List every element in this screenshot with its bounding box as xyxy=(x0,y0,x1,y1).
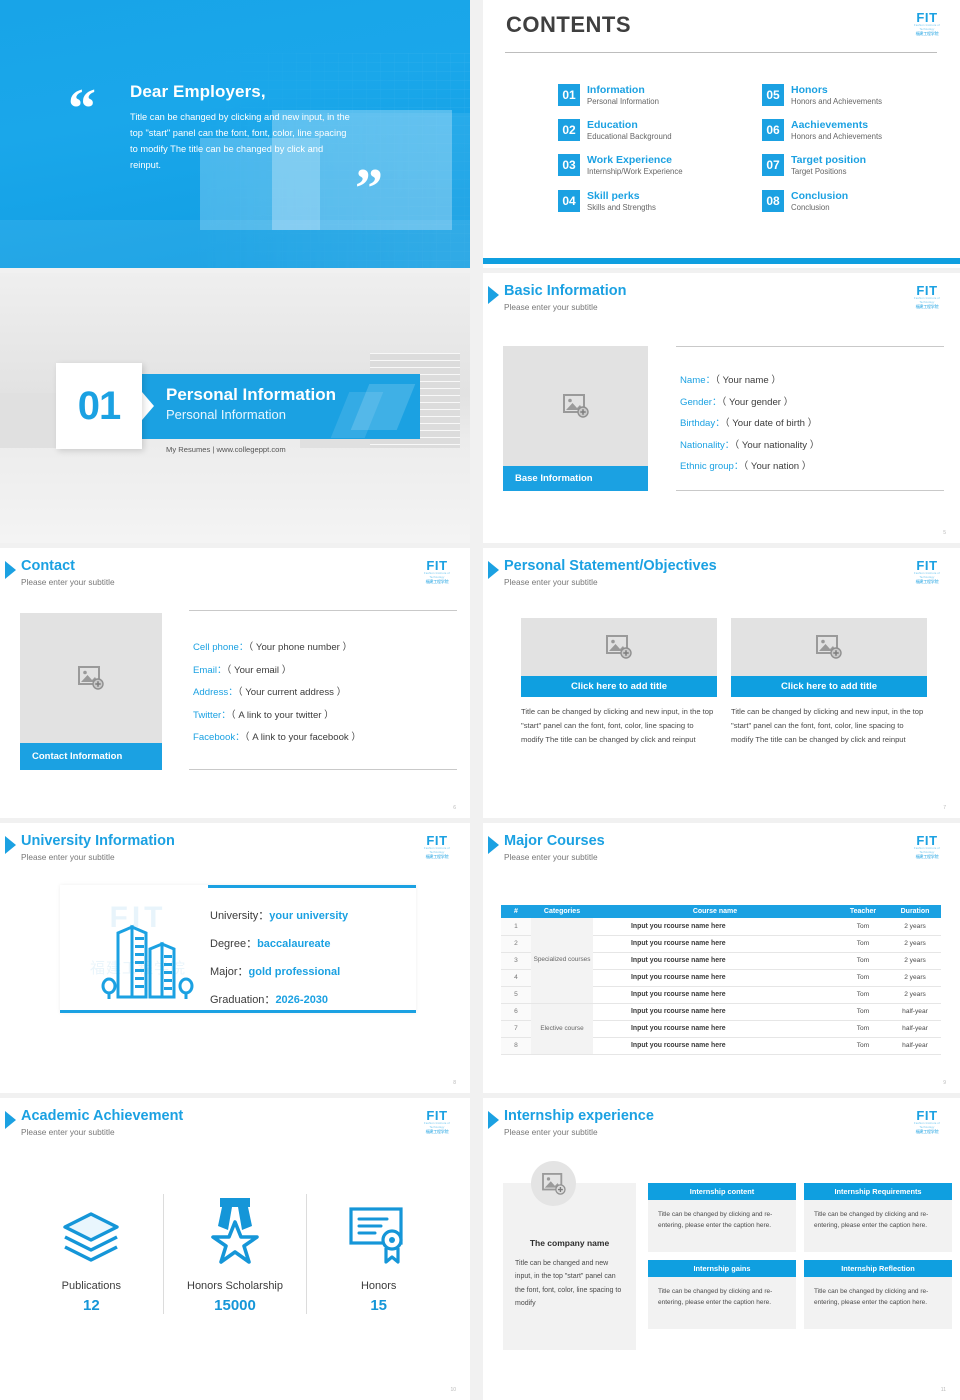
page-subtitle: Please enter your subtitle xyxy=(504,577,598,587)
field-label: Facebook： xyxy=(193,732,245,743)
slide-contact[interactable]: Contact Please enter your subtitle FIT F… xyxy=(0,548,470,818)
company-name: The company name xyxy=(503,1238,636,1248)
layers-icon xyxy=(60,1194,122,1266)
toc-item-title: Conclusion xyxy=(791,190,848,202)
toc-item-subtitle: Honors and Achievements xyxy=(791,97,882,107)
cover-body-text: Title can be changed by clicking and new… xyxy=(130,110,350,174)
field-value: （ A link to your facebook ） xyxy=(245,732,361,743)
field-label: Cell phone： xyxy=(193,642,248,653)
field-label: Graduation： xyxy=(210,994,275,1006)
page-number: 6 xyxy=(453,805,456,811)
fit-logo-subtext-cn: 福建工程学院 xyxy=(912,1130,942,1135)
toc-item-title: Honors xyxy=(791,84,882,96)
contact-field-row[interactable]: Twitter：（ A link to your twitter ） xyxy=(193,711,361,721)
field-label: Birthday： xyxy=(680,418,725,429)
buildings-icon xyxy=(98,907,202,1012)
cover-title: Dear Employers, xyxy=(130,82,350,102)
image-placeholder[interactable] xyxy=(503,346,648,466)
university-field-row[interactable]: University：your university xyxy=(210,907,348,923)
page-subtitle: Please enter your subtitle xyxy=(21,577,115,587)
field-label: Nationality： xyxy=(680,440,734,451)
row-index: 8 xyxy=(501,1037,531,1054)
field-value: your university xyxy=(269,910,348,922)
toc-item-title: Aachievements xyxy=(791,119,882,131)
field-value: （ Your current address ） xyxy=(238,687,346,698)
teacher-cell: Tom xyxy=(837,935,889,952)
fit-logo-wordmark: FIT xyxy=(422,1109,452,1122)
fit-logo: FIT Fashion Institute of Technology 福建工程… xyxy=(912,559,942,585)
fit-logo: FIT Fashion Institute of Technology 福建工程… xyxy=(912,11,942,37)
section-subtitle: Personal Information xyxy=(166,407,336,422)
toc-number-badge: 07 xyxy=(762,154,784,176)
toc-item-04[interactable]: 04Skill perksSkills and Strengths xyxy=(558,190,738,213)
fit-logo-wordmark: FIT xyxy=(912,1109,942,1122)
toc-item-title: Information xyxy=(587,84,659,96)
stat-label: Honors xyxy=(361,1280,396,1292)
page-title: Academic Achievement xyxy=(21,1108,183,1124)
contact-field-row[interactable]: Facebook：（ A link to your facebook ） xyxy=(193,733,361,743)
duration-cell: half-year xyxy=(889,1003,941,1020)
toc-item-title: Skill perks xyxy=(587,190,656,202)
slide-basic-information[interactable]: Basic Information Please enter your subt… xyxy=(483,273,960,543)
fit-logo-wordmark: FIT xyxy=(912,11,942,24)
photo-caption: Base Information xyxy=(503,466,648,491)
row-index: 7 xyxy=(501,1020,531,1037)
achievement-stats-row: Publications12Honors Scholarship15000Hon… xyxy=(20,1194,450,1314)
column-header: Teacher xyxy=(837,905,889,918)
header-arrow-icon xyxy=(5,836,16,854)
teacher-cell: Tom xyxy=(837,986,889,1003)
courses-table-header-row: #CategoriesCourse nameTeacherDuration xyxy=(501,905,941,918)
internship-card[interactable]: Internship RequirementsTitle can be chan… xyxy=(804,1183,952,1252)
contact-fields-box: Cell phone：（ Your phone number ）Email：（ … xyxy=(189,610,457,770)
course-name-cell[interactable]: Input you rcourse name here xyxy=(593,1020,837,1037)
header-arrow-icon xyxy=(5,561,16,579)
internship-card[interactable]: Internship gainsTitle can be changed by … xyxy=(648,1260,796,1329)
fields-rule-top xyxy=(189,610,457,611)
fit-logo: FIT Fashion Institute of Technology 福建工程… xyxy=(912,834,942,860)
fit-logo: FIT Fashion Institute of Technology 福建工程… xyxy=(912,1109,942,1135)
toc-item-title: Education xyxy=(587,119,672,131)
water-band xyxy=(0,220,470,268)
statement-body-text: Title can be changed by clicking and new… xyxy=(731,705,927,747)
toc-item-08[interactable]: 08ConclusionConclusion xyxy=(762,190,942,213)
page-title: Contact xyxy=(21,558,75,574)
course-name-cell[interactable]: Input you rcourse name here xyxy=(593,1003,837,1020)
table-of-contents-list: 01InformationPersonal Information05Honor… xyxy=(558,84,948,213)
page-title: Internship experience xyxy=(504,1108,654,1124)
table-row[interactable]: 6Elective courseInput you rcourse name h… xyxy=(501,1003,941,1020)
university-card: FIT 福建工程学院 xyxy=(60,885,416,1013)
page-title: Major Courses xyxy=(504,833,605,849)
fit-logo-wordmark: FIT xyxy=(912,559,942,572)
category-cell: Specialized courses xyxy=(531,918,593,1003)
toc-item-subtitle: Personal Information xyxy=(587,97,659,107)
teacher-cell: Tom xyxy=(837,952,889,969)
duration-cell: 2 years xyxy=(889,986,941,1003)
basic-info-field-list: Name：（ Your name ）Gender：（ Your gender ）… xyxy=(680,376,819,472)
field-value: 2026-2030 xyxy=(275,994,328,1006)
internship-card-title[interactable]: Internship gains xyxy=(648,1260,796,1277)
section-number: 01 xyxy=(78,384,121,429)
basic-field-row[interactable]: Gender：（ Your gender ） xyxy=(680,398,819,408)
column-header: Duration xyxy=(889,905,941,918)
slide-academic-achievement[interactable]: Academic Achievement Please enter your s… xyxy=(0,1098,470,1400)
image-placeholder[interactable] xyxy=(20,613,162,743)
internship-card-title[interactable]: Internship content xyxy=(648,1183,796,1200)
toc-item-02[interactable]: 02EducationEducational Background xyxy=(558,119,738,142)
header-arrow-icon xyxy=(488,1111,499,1129)
page-subtitle: Please enter your subtitle xyxy=(21,852,115,862)
add-title-button[interactable]: Click here to add title xyxy=(521,676,717,697)
column-header: Course name xyxy=(593,905,837,918)
toc-item-title: Target position xyxy=(791,154,866,166)
teacher-cell: Tom xyxy=(837,918,889,935)
fields-rule-top xyxy=(676,346,944,347)
course-name-cell[interactable]: Input you rcourse name here xyxy=(593,986,837,1003)
row-index: 4 xyxy=(501,969,531,986)
add-title-button[interactable]: Click here to add title xyxy=(731,676,927,697)
fit-logo-subtext-cn: 福建工程学院 xyxy=(912,855,942,860)
toc-number-badge: 08 xyxy=(762,190,784,212)
field-value: （ Your email ） xyxy=(227,665,292,676)
field-label: Twitter： xyxy=(193,710,231,721)
toc-item-06[interactable]: 06AachievementsHonors and Achievements xyxy=(762,119,942,142)
header-arrow-icon xyxy=(488,561,499,579)
toc-item-subtitle: Honors and Achievements xyxy=(791,132,882,142)
toc-item-01[interactable]: 01InformationPersonal Information xyxy=(558,84,738,107)
slide-internship-experience[interactable]: Internship experience Please enter your … xyxy=(483,1098,960,1400)
add-image-icon xyxy=(606,635,632,659)
toc-item-subtitle: Conclusion xyxy=(791,203,848,213)
course-name-cell[interactable]: Input you rcourse name here xyxy=(593,969,837,986)
page-number: 8 xyxy=(453,1080,456,1086)
slide-major-courses[interactable]: Major Courses Please enter your subtitle… xyxy=(483,823,960,1093)
fit-logo-subtext-cn: 福建工程学院 xyxy=(912,305,942,310)
page-title: University Information xyxy=(21,833,175,849)
photo-placeholder-block[interactable]: Contact Information xyxy=(20,613,162,770)
contact-field-row[interactable]: Address：（ Your current address ） xyxy=(193,688,361,698)
courses-table[interactable]: #CategoriesCourse nameTeacherDuration 1S… xyxy=(501,905,941,1055)
company-description: Title can be changed and new input, in t… xyxy=(515,1257,627,1310)
add-image-icon xyxy=(816,635,842,659)
internship-card-text: Title can be changed by clicking and re-… xyxy=(804,1200,952,1252)
page-number: 9 xyxy=(943,1080,946,1086)
teacher-cell: Tom xyxy=(837,1037,889,1054)
section-url: My Resumes | www.collegeppt.com xyxy=(166,445,286,454)
field-value: （ Your date of birth ） xyxy=(725,418,817,429)
header-arrow-icon xyxy=(488,836,499,854)
course-name-cell[interactable]: Input you rcourse name here xyxy=(593,952,837,969)
internship-card[interactable]: Internship ReflectionTitle can be change… xyxy=(804,1260,952,1329)
course-name-cell[interactable]: Input you rcourse name here xyxy=(593,1037,837,1054)
course-name-cell[interactable]: Input you rcourse name here xyxy=(593,935,837,952)
field-label: University： xyxy=(210,910,269,922)
teacher-cell: Tom xyxy=(837,969,889,986)
university-field-row[interactable]: Major：gold professional xyxy=(210,963,348,979)
page-title: Personal Statement/Objectives xyxy=(504,558,717,574)
contents-title: CONTENTS xyxy=(506,12,631,38)
basic-info-fields-box: Name：（ Your name ）Gender：（ Your gender ）… xyxy=(676,346,944,491)
fit-logo-wordmark: FIT xyxy=(422,559,452,572)
achievement-stat: Honors Scholarship15000 xyxy=(163,1194,307,1314)
statement-body-text: Title can be changed by clicking and new… xyxy=(521,705,717,747)
field-label: Email： xyxy=(193,665,227,676)
fields-rule-bottom xyxy=(189,769,457,770)
row-index: 2 xyxy=(501,935,531,952)
basic-field-row[interactable]: Nationality：（ Your nationality ） xyxy=(680,441,819,451)
row-index: 6 xyxy=(501,1003,531,1020)
field-label: Ethnic group： xyxy=(680,461,743,472)
field-label: Gender： xyxy=(680,397,722,408)
fit-logo: FIT Fashion Institute of Technology 福建工程… xyxy=(422,834,452,860)
contact-field-list: Cell phone：（ Your phone number ）Email：（ … xyxy=(193,643,361,743)
achievement-stat: Publications12 xyxy=(20,1194,163,1314)
card-rule-top xyxy=(208,885,416,888)
toc-item-subtitle: Target Positions xyxy=(791,167,866,177)
cover-text-block: Dear Employers, Title can be changed by … xyxy=(130,82,350,174)
section-title-block: Personal Information Personal Informatio… xyxy=(166,385,336,422)
fit-logo-wordmark: FIT xyxy=(912,834,942,847)
internship-card-text: Title can be changed by clicking and re-… xyxy=(648,1277,796,1329)
toc-number-badge: 04 xyxy=(558,190,580,212)
internship-card[interactable]: Internship contentTitle can be changed b… xyxy=(648,1183,796,1252)
photo-placeholder-block[interactable]: Base Information xyxy=(503,346,648,491)
stat-label: Publications xyxy=(62,1280,121,1292)
image-placeholder[interactable] xyxy=(521,618,717,676)
category-cell: Elective course xyxy=(531,1003,593,1054)
toc-item-07[interactable]: 07Target positionTarget Positions xyxy=(762,154,942,177)
slide-deck-contact-sheet: “ ” Dear Employers, Title can be changed… xyxy=(0,0,960,1400)
toc-number-badge: 01 xyxy=(558,84,580,106)
section-title: Personal Information xyxy=(166,385,336,405)
field-label: Degree： xyxy=(210,938,257,950)
page-subtitle: Please enter your subtitle xyxy=(504,302,598,312)
row-index: 1 xyxy=(501,918,531,935)
slide-section-divider[interactable]: 01 Personal Information Personal Informa… xyxy=(0,273,470,543)
duration-cell: 2 years xyxy=(889,952,941,969)
certificate-icon xyxy=(347,1194,411,1266)
add-image-icon xyxy=(542,1173,566,1195)
column-header: Categories xyxy=(531,905,593,918)
course-name-cell[interactable]: Input you rcourse name here xyxy=(593,918,837,935)
page-number: 10 xyxy=(450,1387,456,1393)
fit-logo-subtext-cn: 福建工程学院 xyxy=(422,580,452,585)
field-value: baccalaureate xyxy=(257,938,330,950)
university-field-row[interactable]: Graduation：2026-2030 xyxy=(210,991,348,1007)
row-index: 5 xyxy=(501,986,531,1003)
toc-item-03[interactable]: 03Work ExperienceInternship/Work Experie… xyxy=(558,154,738,177)
statement-card[interactable]: Click here to add titleTitle can be chan… xyxy=(731,618,927,747)
duration-cell: half-year xyxy=(889,1020,941,1037)
company-logo-placeholder[interactable] xyxy=(531,1161,576,1206)
page-title: Basic Information xyxy=(504,283,626,299)
internship-card-text: Title can be changed by clicking and re-… xyxy=(804,1277,952,1329)
fit-logo-subtext-cn: 福建工程学院 xyxy=(912,32,942,37)
quote-open-icon: “ xyxy=(68,92,96,127)
stat-value: 15000 xyxy=(214,1297,256,1314)
company-panel: The company name Title can be changed an… xyxy=(503,1183,636,1350)
field-value: gold professional xyxy=(249,966,341,978)
basic-field-row[interactable]: Birthday：（ Your date of birth ） xyxy=(680,419,819,429)
fit-logo-wordmark: FIT xyxy=(422,834,452,847)
statement-card[interactable]: Click here to add titleTitle can be chan… xyxy=(521,618,717,747)
medal-star-icon xyxy=(204,1194,266,1266)
fit-logo: FIT Fashion Institute of Technology 福建工程… xyxy=(912,284,942,310)
duration-cell: half-year xyxy=(889,1037,941,1054)
section-number-box: 01 xyxy=(56,363,142,449)
toc-number-badge: 02 xyxy=(558,119,580,141)
contact-field-row[interactable]: Cell phone：（ Your phone number ） xyxy=(193,643,361,653)
slide-personal-statement[interactable]: Personal Statement/Objectives Please ent… xyxy=(483,548,960,818)
image-placeholder[interactable] xyxy=(731,618,927,676)
table-row[interactable]: 1Specialized coursesInput you rcourse na… xyxy=(501,918,941,935)
duration-cell: 2 years xyxy=(889,918,941,935)
field-value: （ Your nationality ） xyxy=(734,440,819,451)
field-label: Name： xyxy=(680,375,715,386)
header-arrow-icon xyxy=(5,1111,16,1129)
contents-divider xyxy=(505,52,937,53)
fields-rule-bottom xyxy=(676,490,944,491)
university-field-list: University：your universityDegree：baccala… xyxy=(210,907,348,1007)
teacher-cell: Tom xyxy=(837,1020,889,1037)
card-rule-bottom xyxy=(60,1010,416,1013)
page-subtitle: Please enter your subtitle xyxy=(21,1127,115,1137)
stat-value: 15 xyxy=(370,1297,387,1314)
basic-field-row[interactable]: Name：（ Your name ） xyxy=(680,376,819,386)
field-value: （ Your gender ） xyxy=(722,397,794,408)
field-label: Address： xyxy=(193,687,238,698)
toc-item-subtitle: Internship/Work Experience xyxy=(587,167,683,177)
toc-item-subtitle: Educational Background xyxy=(587,132,672,142)
toc-item-05[interactable]: 05HonorsHonors and Achievements xyxy=(762,84,942,107)
fit-logo-subtext-cn: 福建工程学院 xyxy=(912,580,942,585)
slide-cover[interactable]: “ ” Dear Employers, Title can be changed… xyxy=(0,0,470,268)
slide-university-information[interactable]: University Information Please enter your… xyxy=(0,823,470,1093)
contact-field-row[interactable]: Email：（ Your email ） xyxy=(193,666,361,676)
fit-logo-wordmark: FIT xyxy=(912,284,942,297)
fit-logo-subtext-cn: 福建工程学院 xyxy=(422,855,452,860)
stat-value: 12 xyxy=(83,1297,100,1314)
duration-cell: 2 years xyxy=(889,935,941,952)
section-arrow-icon xyxy=(142,392,154,420)
toc-number-badge: 05 xyxy=(762,84,784,106)
fit-logo: FIT Fashion Institute of Technology 福建工程… xyxy=(422,1109,452,1135)
teacher-cell: Tom xyxy=(837,1003,889,1020)
page-number: 7 xyxy=(943,805,946,811)
university-field-row[interactable]: Degree：baccalaureate xyxy=(210,935,348,951)
internship-card-title[interactable]: Internship Requirements xyxy=(804,1183,952,1200)
quote-close-icon: ” xyxy=(355,172,383,207)
stat-label: Honors Scholarship xyxy=(187,1280,283,1292)
internship-card-text: Title can be changed by clicking and re-… xyxy=(648,1200,796,1252)
fit-logo-subtext-cn: 福建工程学院 xyxy=(422,1130,452,1135)
courses-table-body: 1Specialized coursesInput you rcourse na… xyxy=(501,918,941,1054)
page-subtitle: Please enter your subtitle xyxy=(504,1127,598,1137)
toc-number-badge: 03 xyxy=(558,154,580,176)
page-subtitle: Please enter your subtitle xyxy=(504,852,598,862)
column-header: # xyxy=(501,905,531,918)
toc-item-subtitle: Skills and Strengths xyxy=(587,203,656,213)
toc-item-title: Work Experience xyxy=(587,154,683,166)
page-number: 11 xyxy=(941,1387,946,1393)
toc-number-badge: 06 xyxy=(762,119,784,141)
fit-logo: FIT Fashion Institute of Technology 福建工程… xyxy=(422,559,452,585)
slide-contents[interactable]: CONTENTS FIT Fashion Institute of Techno… xyxy=(483,0,960,268)
page-number: 5 xyxy=(943,530,946,536)
field-label: Major： xyxy=(210,966,249,978)
field-value: （ Your phone number ） xyxy=(248,642,352,653)
field-value: （ Your name ） xyxy=(715,375,781,386)
field-value: （ A link to your twitter ） xyxy=(231,710,334,721)
achievement-stat: Honors15 xyxy=(306,1194,450,1314)
duration-cell: 2 years xyxy=(889,969,941,986)
basic-field-row[interactable]: Ethnic group：（ Your nation ） xyxy=(680,462,819,472)
add-image-icon xyxy=(563,394,589,418)
field-value: （ Your nation ） xyxy=(743,461,811,472)
row-index: 3 xyxy=(501,952,531,969)
add-image-icon xyxy=(78,666,104,690)
contents-footer-bar xyxy=(483,258,960,264)
photo-caption: Contact Information xyxy=(20,743,162,770)
header-arrow-icon xyxy=(488,286,499,304)
internship-card-title[interactable]: Internship Reflection xyxy=(804,1260,952,1277)
